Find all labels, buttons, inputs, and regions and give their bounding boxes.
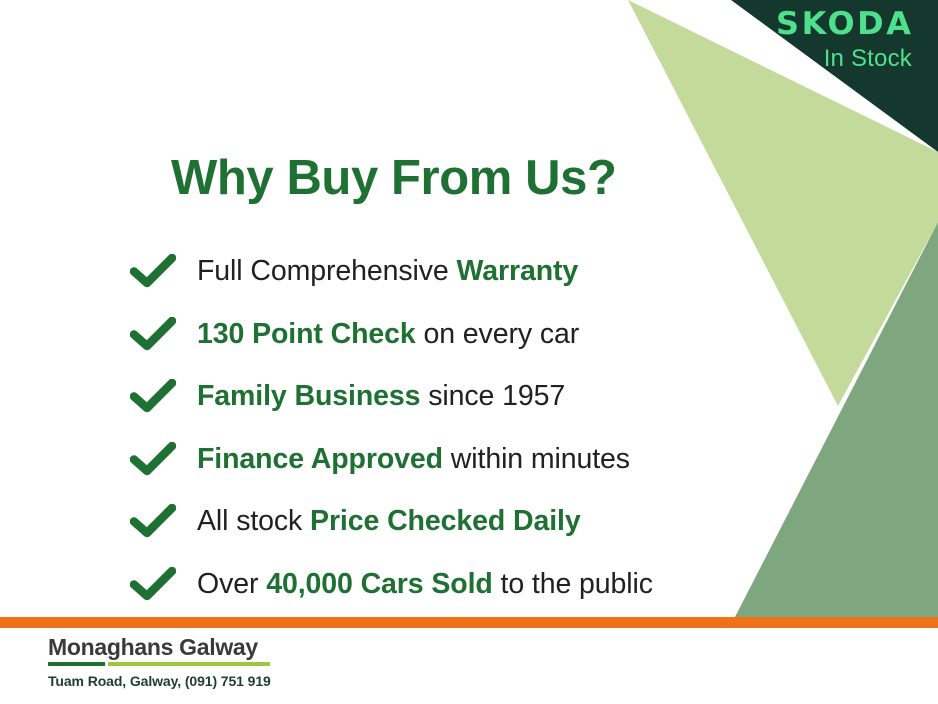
page-title: Why Buy From Us?: [171, 152, 617, 206]
check-icon: [130, 504, 176, 538]
list-item: 130 Point Check on every car: [130, 303, 653, 366]
check-icon: [130, 254, 176, 288]
list-item-text: Finance Approved within minutes: [197, 445, 630, 474]
text-prefix: Over: [197, 568, 266, 600]
list-item: All stock Price Checked Daily: [130, 490, 653, 553]
in-stock-label: In Stock: [780, 45, 912, 73]
poster-canvas: SKODA In Stock Why Buy From Us? Full Com…: [0, 0, 938, 704]
text-emphasis: Family Business: [197, 380, 420, 412]
brand-block: SKODA In Stock: [780, 8, 914, 72]
dealer-address: Tuam Road, Galway, (091) 751 919: [48, 673, 271, 689]
footer: Monaghans Galway Tuam Road, Galway, (091…: [48, 634, 271, 689]
text-emphasis: 40,000 Cars Sold: [266, 568, 493, 600]
text-emphasis: 130 Point Check: [197, 318, 416, 350]
text-suffix: on every car: [416, 318, 579, 350]
check-icon: [130, 442, 176, 476]
list-item-text: 130 Point Check on every car: [197, 320, 579, 349]
text-emphasis: Warranty: [456, 255, 578, 287]
text-prefix: Full Comprehensive: [197, 255, 456, 287]
list-item-text: Family Business since 1957: [197, 382, 565, 411]
text-emphasis: Finance Approved: [197, 443, 443, 475]
text-suffix: to the public: [493, 568, 653, 600]
list-item: Family Business since 1957: [130, 365, 653, 428]
text-emphasis: Price Checked Daily: [310, 505, 581, 537]
skoda-wordmark-logo: SKODA: [776, 8, 914, 41]
text-suffix: within minutes: [443, 443, 630, 475]
check-icon: [130, 567, 176, 601]
text-suffix: since 1957: [420, 380, 565, 412]
list-item-text: Over 40,000 Cars Sold to the public: [197, 570, 653, 599]
sage-green-wedge: [735, 222, 938, 617]
list-item: Full Comprehensive Warranty: [130, 240, 653, 303]
check-icon: [130, 317, 176, 351]
benefits-list: Full Comprehensive Warranty 130 Point Ch…: [130, 240, 653, 615]
list-item: Finance Approved within minutes: [130, 428, 653, 491]
check-icon: [130, 379, 176, 413]
text-prefix: All stock: [197, 505, 310, 537]
divider: [0, 617, 938, 628]
list-item-text: All stock Price Checked Daily: [197, 507, 581, 536]
list-item: Over 40,000 Cars Sold to the public: [130, 553, 653, 616]
list-item-text: Full Comprehensive Warranty: [197, 257, 578, 286]
dealer-name: Monaghans Galway: [48, 634, 271, 660]
dealer-name-underline: [48, 662, 270, 666]
